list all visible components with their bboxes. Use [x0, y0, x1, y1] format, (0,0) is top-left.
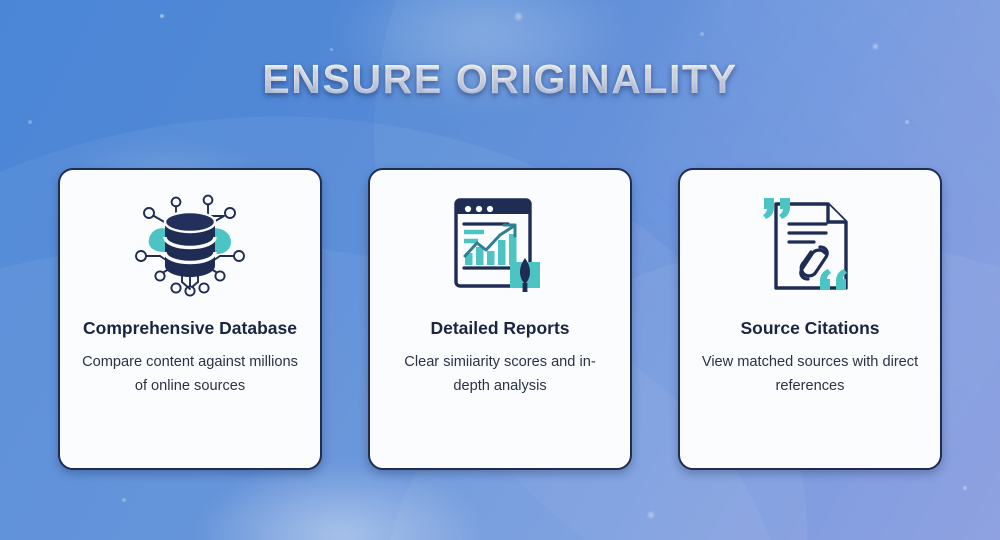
window-dots: [465, 206, 493, 212]
background-glow-bottom: [190, 460, 490, 540]
sparkle-dot: [905, 120, 909, 124]
cloud-database-network-icon: [124, 190, 256, 302]
sparkle-dot: [160, 14, 164, 18]
sparkle-dot: [648, 512, 654, 518]
slide-canvas: ENSURE ORIGINALITY: [0, 0, 1000, 540]
card-description: View matched sources with direct referen…: [680, 351, 940, 398]
card-icon-container: [448, 176, 552, 316]
sparkle-dot: [963, 486, 967, 490]
page-title: ENSURE ORIGINALITY: [262, 56, 737, 103]
sparkle-dot: [873, 44, 878, 49]
sparkle-dot: [515, 13, 522, 20]
report-chart-window-icon: [448, 190, 552, 302]
card-description: Clear simiiarity scores and in-depth ana…: [370, 351, 630, 398]
feature-card-source-citations[interactable]: Source Citations View matched sources wi…: [678, 168, 942, 470]
card-title: Source Citations: [740, 318, 879, 339]
sparkle-dot: [700, 32, 704, 36]
card-icon-container: [124, 176, 256, 316]
card-description: Compare content against millions of onli…: [60, 351, 320, 398]
card-icon-container: [756, 176, 864, 316]
pin-stem: [523, 283, 528, 292]
database-cylinder: [165, 212, 215, 277]
document-quote-link-icon: [756, 190, 864, 302]
sparkle-dot: [28, 120, 32, 124]
feature-card-comprehensive-database[interactable]: Comprehensive Database Compare content a…: [58, 168, 322, 470]
card-title: Detailed Reports: [430, 318, 569, 339]
feature-card-detailed-reports[interactable]: Detailed Reports Clear simiiarity scores…: [368, 168, 632, 470]
feature-card-row: Comprehensive Database Compare content a…: [58, 168, 942, 470]
sparkle-dot: [330, 48, 333, 51]
card-title: Comprehensive Database: [83, 318, 297, 339]
title-container: ENSURE ORIGINALITY: [0, 56, 1000, 103]
sparkle-dot: [122, 498, 126, 502]
